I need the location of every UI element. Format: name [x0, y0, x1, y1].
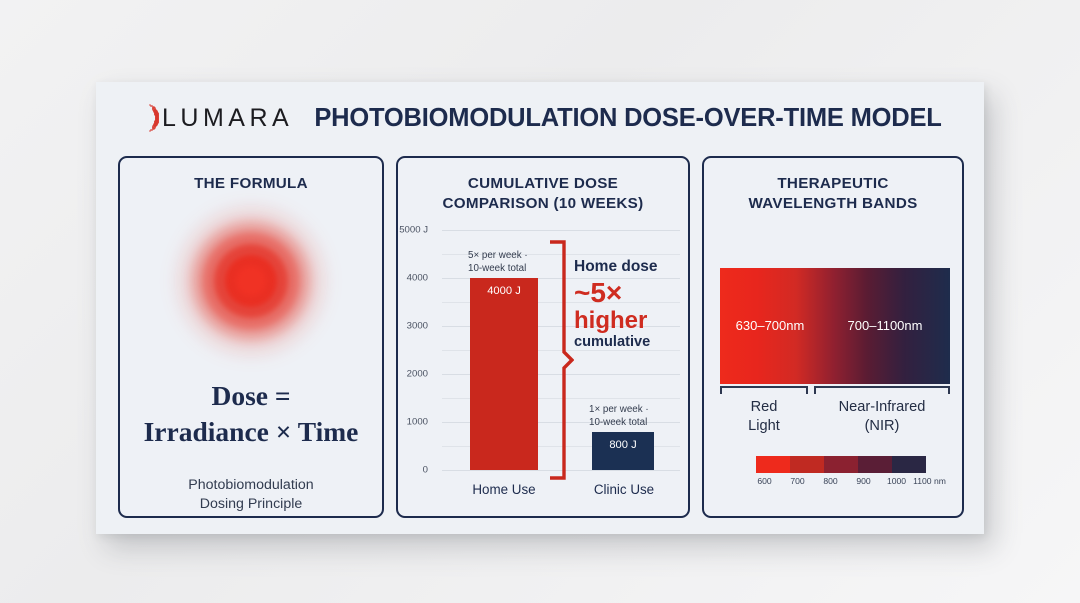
bracket-label-red-line-1: Red [714, 398, 814, 417]
panel-chart: CUMULATIVE DOSE COMPARISON (10 WEEKS) 50… [396, 156, 690, 518]
panel-formula-title: THE FORMULA [120, 174, 382, 194]
wavelength-gradient: 630–700nm 700–1100nm [720, 268, 950, 384]
panel-chart-title-line-2: COMPARISON (10 WEEKS) [408, 194, 678, 214]
chart-plot-area: 5000 J40003000200010000 5× per week ·10-… [442, 230, 680, 470]
bar-value-home: 4000 J [470, 285, 538, 297]
legend-swatch [824, 456, 858, 473]
legend-swatch [858, 456, 892, 473]
legend-swatch [790, 456, 824, 473]
bracket-label-red: Red Light [714, 398, 814, 436]
chart-y-tick: 1000 [382, 417, 428, 428]
chart-y-tick: 0 [382, 465, 428, 476]
bar-clinic-use: 800 J [592, 432, 654, 470]
formula-caption: Photobiomodulation Dosing Principle [120, 476, 382, 515]
bracket-label-nir-line-1: Near-Infrared [808, 398, 956, 417]
infographic-card: LUMARA PHOTOBIOMODULATION DOSE-OVER-TIME… [96, 82, 984, 534]
bar-note-clinic: 1× per week ·10-week total [589, 404, 649, 430]
legend-swatch [756, 456, 790, 473]
brand-logo: LUMARA [118, 95, 290, 141]
chart-y-tick: 5000 J [382, 225, 428, 236]
bracket-nir-icon [814, 386, 950, 394]
panel-chart-title-line-1: CUMULATIVE DOSE [408, 174, 678, 194]
chart-y-tick: 4000 [382, 273, 428, 284]
bracket-label-nir: Near-Infrared (NIR) [808, 398, 956, 436]
bar-note-home: 5× per week ·10-week total [468, 250, 528, 276]
legend-tick: 1100 nm [913, 476, 946, 486]
chart-y-tick: 2000 [382, 369, 428, 380]
band-label-nir: 700–1100nm [824, 318, 946, 333]
formula-caption-line-1: Photobiomodulation [120, 476, 382, 496]
panel-wavelength-title-line-2: WAVELENGTH BANDS [714, 194, 952, 214]
callout-top: Home dose [574, 258, 686, 276]
page-title: PHOTOBIOMODULATION DOSE-OVER-TIME MODEL [290, 104, 984, 133]
panel-formula: THE FORMULA Dose = Irradiance × Time Pho… [118, 156, 384, 518]
radial-glow-icon [166, 206, 336, 356]
chart-y-tick: 3000 [382, 321, 428, 332]
band-label-red: 630–700nm [724, 318, 816, 333]
wavelength-legend: 60070080090010001100 nm [756, 456, 926, 486]
bracket-label-red-line-2: Light [714, 417, 814, 436]
chart-gridline [442, 230, 680, 231]
formula-caption-line-2: Dosing Principle [120, 495, 382, 515]
panel-wavelength: THERAPEUTIC WAVELENGTH BANDS 630–700nm 7… [702, 156, 964, 518]
formula-equation: Dose = Irradiance × Time [120, 378, 382, 450]
legend-tick: 800 [814, 476, 847, 486]
formula-line-1: Dose = [126, 378, 376, 414]
legend-tick: 600 [748, 476, 781, 486]
brand-name: LUMARA [162, 104, 293, 133]
panel-wavelength-title-line-1: THERAPEUTIC [714, 174, 952, 194]
comparison-brace-icon [548, 240, 574, 480]
bracket-red-icon [720, 386, 808, 394]
legend-tick: 700 [781, 476, 814, 486]
dotted-arc-icon [118, 95, 164, 141]
legend-swatches [756, 456, 926, 473]
x-label-clinic-use: Clinic Use [572, 482, 676, 497]
legend-swatch [892, 456, 926, 473]
bar-home-use: 4000 J [470, 278, 538, 470]
panel-wavelength-title: THERAPEUTIC WAVELENGTH BANDS [704, 174, 962, 214]
panel-chart-title: CUMULATIVE DOSE COMPARISON (10 WEEKS) [398, 174, 688, 214]
callout-higher: higher [574, 308, 686, 333]
legend-tick-labels: 60070080090010001100 nm [748, 476, 946, 486]
legend-tick: 1000 [880, 476, 913, 486]
formula-line-2: Irradiance × Time [126, 414, 376, 450]
chart-callout: Home dose ~5× higher cumulative [574, 258, 686, 351]
bar-value-clinic: 800 J [592, 439, 654, 451]
callout-cumulative: cumulative [574, 334, 686, 351]
bracket-label-nir-line-2: (NIR) [808, 417, 956, 436]
legend-tick: 900 [847, 476, 880, 486]
bar-chart: 5000 J40003000200010000 5× per week ·10-… [398, 220, 692, 516]
x-label-home-use: Home Use [452, 482, 556, 497]
callout-multiplier: ~5× [574, 278, 686, 308]
header: LUMARA PHOTOBIOMODULATION DOSE-OVER-TIME… [96, 82, 984, 154]
